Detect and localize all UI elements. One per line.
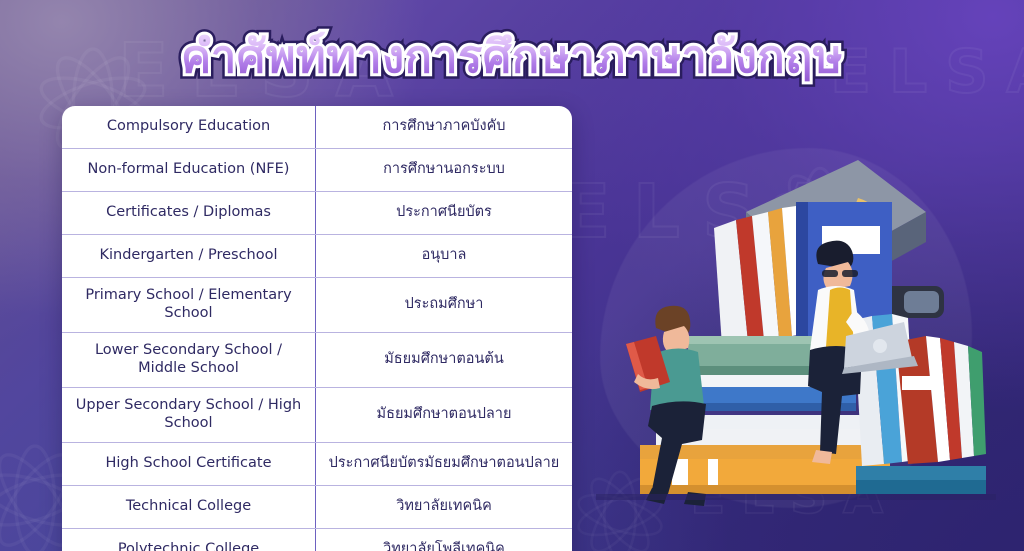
term-thai: ประกาศนียบัตร — [315, 192, 572, 234]
table-row: Upper Secondary School / High Schoolมัธย… — [62, 388, 572, 443]
term-thai: อนุบาล — [315, 235, 572, 277]
term-english: Certificates / Diplomas — [62, 192, 315, 234]
term-english: Upper Secondary School / High School — [62, 388, 315, 442]
vocabulary-table: Compulsory EducationการศึกษาภาคบังคับNon… — [62, 106, 572, 551]
term-english: Lower Secondary School / Middle School — [62, 333, 315, 387]
table-row: Lower Secondary School / Middle Schoolมั… — [62, 333, 572, 388]
table-row: Non-formal Education (NFE)การศึกษานอกระบ… — [62, 149, 572, 192]
page-title-text: คำศัพท์ทางการศึกษาภาษาอังกฤษ — [181, 30, 843, 83]
term-thai: ประกาศนียบัตรมัธยมศึกษาตอนปลาย — [315, 443, 572, 485]
term-thai: วิทยาลัยเทคนิค — [315, 486, 572, 528]
table-row: Polytechnic Collegeวิทยาลัยโพลีเทคนิค — [62, 529, 572, 551]
term-thai: การศึกษาภาคบังคับ — [315, 106, 572, 148]
term-english: Primary School / Elementary School — [62, 278, 315, 332]
term-thai: มัธยมศึกษาตอนต้น — [315, 333, 572, 387]
table-row: Technical Collegeวิทยาลัยเทคนิค — [62, 486, 572, 529]
term-thai: วิทยาลัยโพลีเทคนิค — [315, 529, 572, 551]
term-thai: มัธยมศึกษาตอนปลาย — [315, 388, 572, 442]
page-title: คำศัพท์ทางการศึกษาภาษาอังกฤษ คำศัพท์ทางก… — [0, 30, 1024, 83]
term-english: Kindergarten / Preschool — [62, 235, 315, 277]
table-row: High School Certificateประกาศนียบัตรมัธย… — [62, 443, 572, 486]
term-english: Compulsory Education — [62, 106, 315, 148]
term-english: Non-formal Education (NFE) — [62, 149, 315, 191]
term-thai: การศึกษานอกระบบ — [315, 149, 572, 191]
term-thai: ประถมศึกษา — [315, 278, 572, 332]
term-english: Polytechnic College — [62, 529, 315, 551]
table-row: Certificates / Diplomasประกาศนียบัตร — [62, 192, 572, 235]
table-row: Compulsory Educationการศึกษาภาคบังคับ — [62, 106, 572, 149]
table-row: Primary School / Elementary Schoolประถมศ… — [62, 278, 572, 333]
table-row: Kindergarten / Preschoolอนุบาล — [62, 235, 572, 278]
students-on-books-illustration — [596, 150, 996, 510]
term-english: Technical College — [62, 486, 315, 528]
term-english: High School Certificate — [62, 443, 315, 485]
poster-canvas: ELSA ELSA ELSA ELSA ELSA — [0, 0, 1024, 551]
